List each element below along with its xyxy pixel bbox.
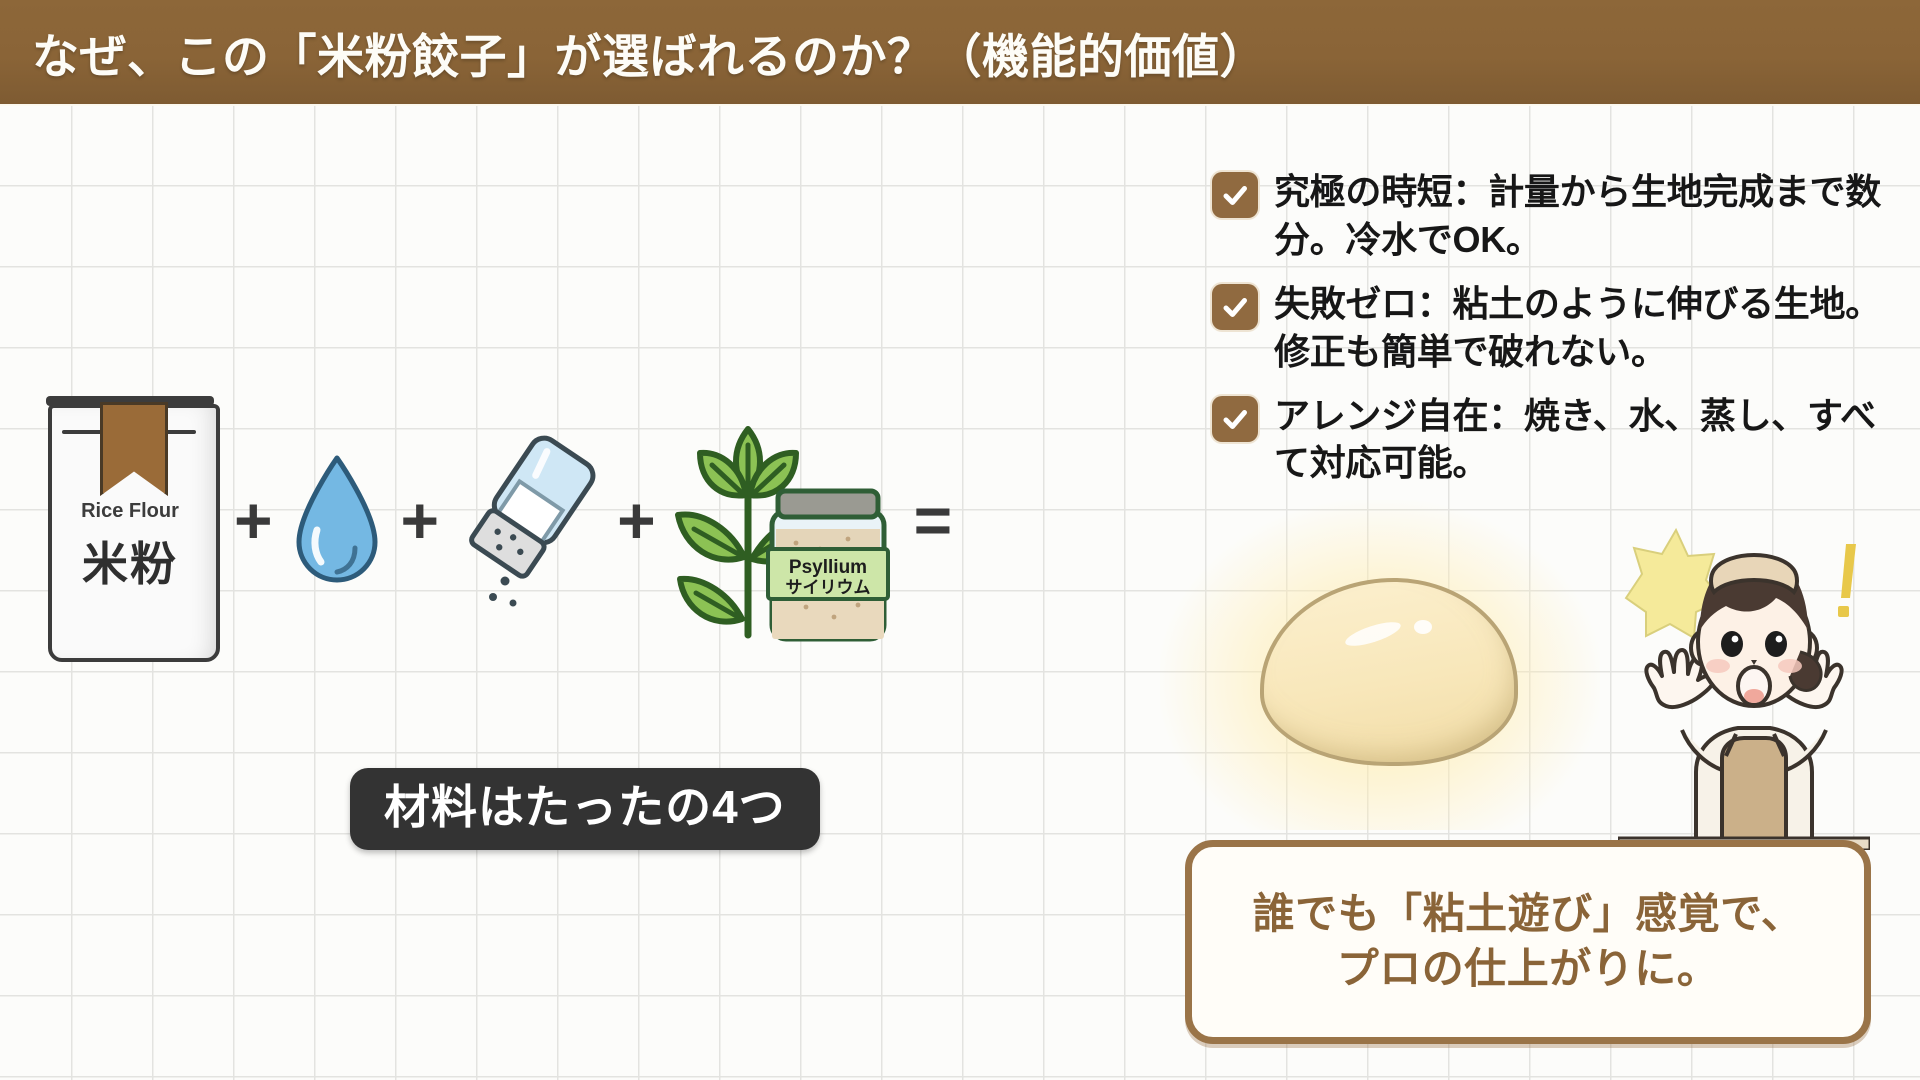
psyllium-jar-icon: Psyllium サイリウム: [762, 485, 894, 645]
psyllium-plant-and-jar: Psyllium サイリウム: [670, 395, 900, 645]
water-drop-icon: [287, 450, 387, 590]
check-icon: [1212, 284, 1258, 330]
tongue: [1744, 689, 1764, 703]
callout-line-1: 誰でも「粘土遊び」感覚で、: [1253, 887, 1804, 942]
ingredient-rice-flour: Rice Flour 米粉: [40, 384, 220, 656]
ingredient-equation: Rice Flour 米粉 + +: [40, 370, 1160, 670]
right-eye: [1765, 631, 1787, 657]
checklist-item-text: 失敗ゼロ：粘土のように伸びる生地。修正も簡単で破れない。: [1274, 280, 1902, 376]
jar-label-english: Psyllium: [789, 557, 867, 578]
apron: [1722, 738, 1786, 850]
title-bar: なぜ、この「米粉餃子」が選ばれるのか？（機能的価値）: [0, 0, 1920, 104]
checklist-item: 失敗ゼロ：粘土のように伸びる生地。修正も簡単で破れない。: [1212, 280, 1902, 376]
right-blush: [1778, 659, 1802, 673]
bag-label-english: Rice Flour: [40, 500, 220, 523]
check-icon: [1212, 396, 1258, 442]
callout-line-2: プロの仕上がりに。: [1337, 942, 1720, 997]
dough-highlight-small: [1414, 620, 1432, 634]
salt-shaker-icon: [453, 425, 603, 615]
ingredient-psyllium: Psyllium サイリウム: [670, 395, 900, 645]
dough-highlight-large: [1343, 617, 1403, 650]
check-icon: [1212, 172, 1258, 218]
left-blush: [1706, 659, 1730, 673]
checklist-item: アレンジ自在：焼き、水、蒸し、すべて対応可能。: [1212, 392, 1902, 488]
rice-flour-bag-icon: Rice Flour 米粉: [40, 384, 220, 656]
ingredient-salt: [453, 425, 603, 615]
exclamation-icon: [1838, 544, 1856, 617]
checklist-item-text: 究極の時短：計量から生地完成まで数分。冷水でOK。: [1274, 168, 1902, 264]
bag-label-japanese: 米粉: [40, 528, 220, 594]
plus-operator-2: +: [387, 487, 454, 553]
jar-label-japanese: サイリウム: [785, 578, 870, 597]
plus-operator-3: +: [603, 487, 670, 553]
surprised-cook-illustration: [1618, 520, 1870, 850]
ingredient-water: [287, 450, 387, 590]
left-eye: [1721, 631, 1743, 657]
plus-operator-1: +: [220, 487, 287, 553]
badge-label: 材料はたったの4つ: [384, 784, 786, 830]
bottom-callout: 誰でも「粘土遊び」感覚で、 プロの仕上がりに。: [1185, 840, 1871, 1044]
page-title: なぜ、この「米粉餃子」が選ばれるのか？（機能的価値）: [32, 18, 1267, 87]
equals-operator: =: [900, 487, 967, 553]
ingredient-count-badge: 材料はたったの4つ: [350, 768, 820, 850]
checklist-item-text: アレンジ自在：焼き、水、蒸し、すべて対応可能。: [1274, 392, 1902, 488]
checklist-item: 究極の時短：計量から生地完成まで数分。冷水でOK。: [1212, 168, 1902, 264]
dough-ball-result: [1230, 560, 1530, 770]
benefits-checklist: 究極の時短：計量から生地完成まで数分。冷水でOK。 失敗ゼロ：粘土のように伸びる…: [1212, 168, 1902, 503]
